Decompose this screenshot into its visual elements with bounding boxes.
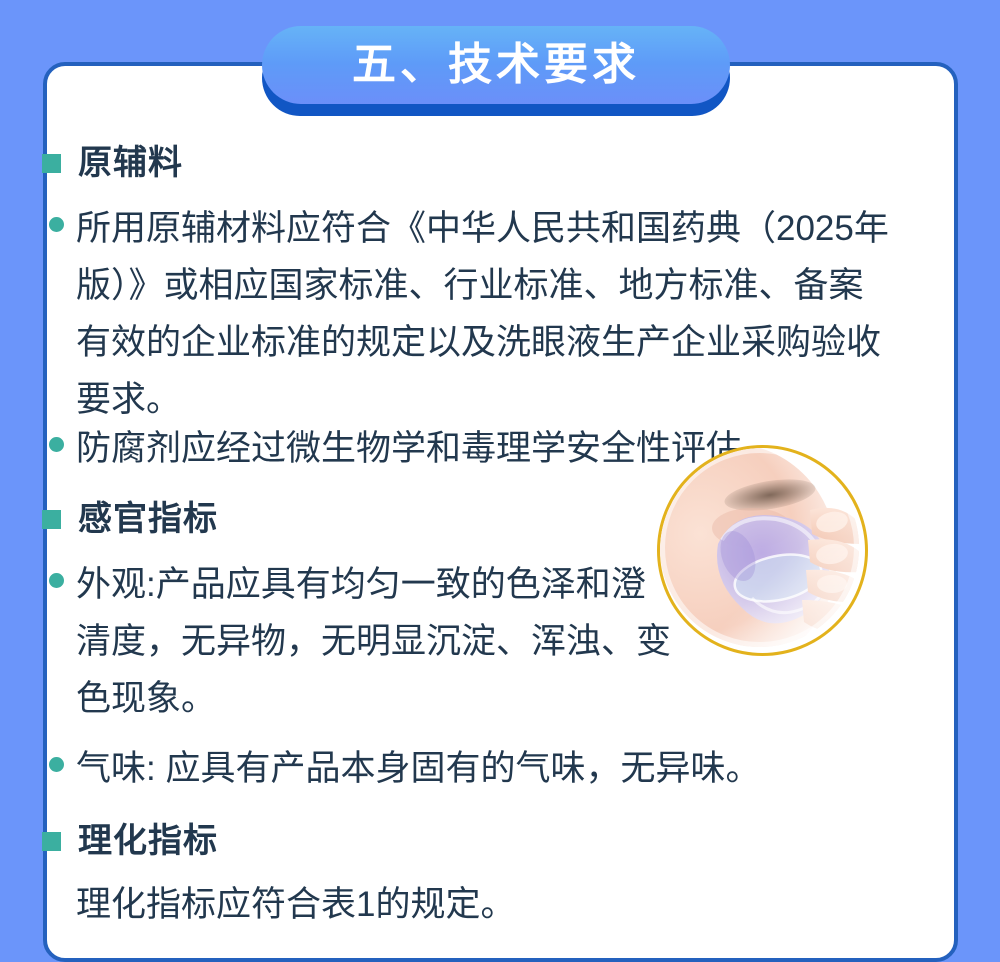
dot-bullet-icon [49, 437, 64, 452]
infographic-page: 原辅料 所用原辅材料应符合《中华人民共和国药典（2025年版）》或相应国家标准、… [0, 0, 1000, 948]
photo-clip [660, 448, 865, 653]
eye-wash-illustration-icon [660, 448, 859, 647]
section-title-badge: 五、技术要求 [262, 26, 730, 116]
plain-row: 理化指标应符合表1的规定。 [0, 876, 915, 933]
dot-bullet-icon [49, 757, 64, 772]
bullet-text: 外观:产品应具有均匀一致的色泽和澄清度，无异物，无明显沉淀、浑浊、变色现象。 [76, 556, 676, 727]
bullet-sensory-2: 气味: 应具有产品本身固有的气味，无异味。 [0, 740, 915, 797]
bullet-row: 气味: 应具有产品本身固有的气味，无异味。 [0, 740, 915, 797]
dot-bullet-icon [49, 217, 64, 232]
page-title: 五、技术要求 [352, 43, 640, 87]
bullet-text: 气味: 应具有产品本身固有的气味，无异味。 [76, 740, 896, 797]
section-heading-label: 理化指标 [76, 820, 224, 862]
body-text: 理化指标应符合表1的规定。 [76, 876, 896, 933]
square-bullet-icon [42, 510, 61, 529]
bullet-row: 所用原辅材料应符合《中华人民共和国药典（2025年版）》或相应国家标准、行业标准… [0, 200, 915, 428]
section-heading-label: 感官指标 [76, 498, 224, 540]
square-bullet-icon [42, 832, 61, 851]
section-raw-materials: 原辅料 [0, 142, 915, 184]
dot-bullet-icon [49, 573, 64, 588]
section-physicochemical-indicators: 理化指标 [0, 820, 915, 862]
title-badge-pill: 五、技术要求 [262, 26, 730, 104]
bullet-text: 所用原辅材料应符合《中华人民共和国药典（2025年版）》或相应国家标准、行业标准… [76, 200, 896, 428]
square-bullet-icon [42, 154, 61, 173]
section-heading-physicochemical: 理化指标 [0, 820, 915, 862]
section-heading-raw-materials: 原辅料 [0, 142, 915, 184]
section-heading-label: 原辅料 [76, 142, 189, 184]
eye-wash-cup-photo [657, 445, 868, 656]
bullet-raw-materials-1: 所用原辅材料应符合《中华人民共和国药典（2025年版）》或相应国家标准、行业标准… [0, 200, 915, 428]
text-physicochemical-1: 理化指标应符合表1的规定。 [0, 876, 915, 933]
